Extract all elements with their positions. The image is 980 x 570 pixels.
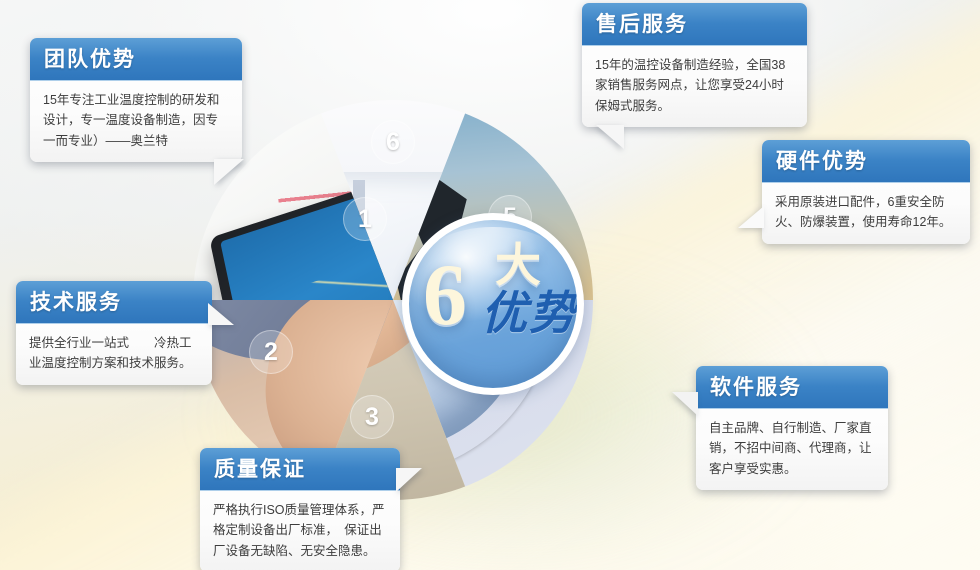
callout-team-title: 团队优势 — [30, 38, 242, 81]
callout-technical-tail — [208, 303, 234, 325]
segment-badge-6: 6 — [371, 120, 415, 164]
callout-after-sales-body: 15年的温控设备制造经验，全国38家销售服务网点，让您享受24小时保姆式服务。 — [582, 46, 807, 127]
callout-software-title: 软件服务 — [696, 366, 888, 409]
callout-after-sales-tail — [596, 125, 624, 149]
callout-technical-body: 提供全行业一站式 冷热工业温度控制方案和技术服务。 — [16, 324, 212, 385]
callout-after-sales-title: 售后服务 — [582, 3, 807, 46]
callout-software-service[interactable]: 软件服务 自主品牌、自行制造、厂家直销，不招中间商、代理商，让客户享受实惠。 — [696, 366, 888, 490]
callout-after-sales-service[interactable]: 售后服务 15年的温控设备制造经验，全国38家销售服务网点，让您享受24小时保姆… — [582, 3, 807, 127]
callout-team-advantage[interactable]: 团队优势 15年专注工业温度控制的研发和设计，专一温度设备制造，因专一而专业）—… — [30, 38, 242, 162]
callout-quality-body: 严格执行ISO质量管理体系，严格定制设备出厂标准， 保证出厂设备无缺陷、无安全隐… — [200, 491, 400, 570]
callout-team-body: 15年专注工业温度控制的研发和设计，专一温度设备制造，因专一而专业）——奥兰特 — [30, 81, 242, 162]
callout-hardware-title: 硬件优势 — [762, 140, 970, 183]
center-script-text: 优势 — [481, 290, 577, 336]
callout-technical-service[interactable]: 技术服务 提供全行业一站式 冷热工业温度控制方案和技术服务。 — [16, 281, 212, 385]
center-big-char: 大 — [495, 242, 541, 288]
callout-quality-assurance[interactable]: 质量保证 严格执行ISO质量管理体系，严格定制设备出厂标准， 保证出厂设备无缺陷… — [200, 448, 400, 570]
callout-team-tail — [214, 159, 244, 185]
callout-quality-title: 质量保证 — [200, 448, 400, 491]
callout-hardware-tail — [738, 206, 764, 228]
callout-software-body: 自主品牌、自行制造、厂家直销，不招中间商、代理商，让客户享受实惠。 — [696, 409, 888, 490]
center-number: 6 — [423, 256, 467, 335]
segment-badge-3: 3 — [350, 395, 394, 439]
callout-quality-tail — [396, 468, 422, 492]
callout-software-tail — [672, 392, 698, 416]
callout-hardware-body: 采用原装进口配件，6重安全防火、防爆装置，使用寿命12年。 — [762, 183, 970, 244]
callout-hardware-advantage[interactable]: 硬件优势 采用原装进口配件，6重安全防火、防爆装置，使用寿命12年。 — [762, 140, 970, 244]
center-medallion: 6 大 优势 — [402, 213, 584, 395]
callout-technical-title: 技术服务 — [16, 281, 212, 324]
segment-badge-1: 1 — [343, 197, 387, 241]
segment-badge-2: 2 — [249, 330, 293, 374]
